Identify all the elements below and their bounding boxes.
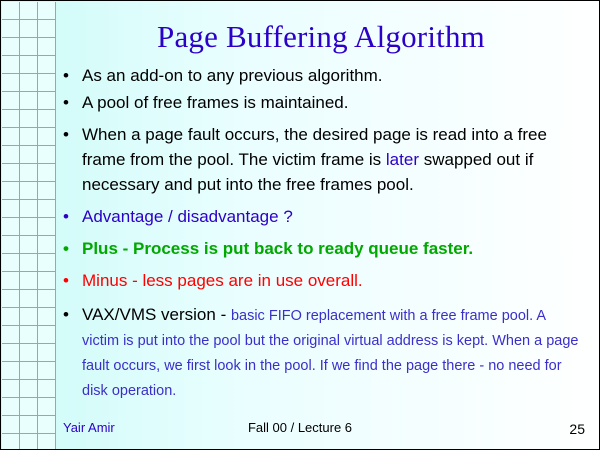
- bullet-icon: •: [63, 122, 82, 147]
- list-item: • Advantage / disadvantage ?: [63, 204, 583, 229]
- list-item: • When a page fault occurs, the desired …: [63, 122, 583, 197]
- list-item-text: Minus - less pages are in use overall.: [82, 268, 583, 293]
- bullet-icon: •: [63, 236, 82, 261]
- list-item-text: Plus - Process is put back to ready queu…: [82, 236, 583, 261]
- list-item: • A pool of free frames is maintained.: [63, 90, 583, 115]
- bullet-icon: •: [63, 204, 82, 229]
- bullet-list: • As an add-on to any previous algorithm…: [63, 63, 583, 404]
- list-item-text: Advantage / disadvantage ?: [82, 204, 583, 229]
- bullet-icon: •: [63, 268, 82, 293]
- list-item-text: When a page fault occurs, the desired pa…: [82, 122, 583, 197]
- list-item: • VAX/VMS version - basic FIFO replaceme…: [63, 302, 583, 402]
- footer-page-number: 25: [569, 421, 585, 437]
- list-item: • Minus - less pages are in use overall.: [63, 268, 583, 293]
- slide-canvas: Page Buffering Algorithm • As an add-on …: [0, 0, 600, 450]
- page-title: Page Buffering Algorithm: [61, 19, 581, 55]
- list-item-text: VAX/VMS version - basic FIFO replacement…: [82, 302, 583, 402]
- bullet-icon: •: [63, 90, 82, 115]
- decorative-grid-strip: [2, 2, 56, 450]
- text-segment: VAX/VMS version -: [82, 305, 231, 324]
- list-item-text: A pool of free frames is maintained.: [82, 90, 583, 115]
- list-item-text: As an add-on to any previous algorithm.: [82, 63, 583, 88]
- bullet-icon: •: [63, 63, 82, 88]
- footer-lecture-info: Fall 00 / Lecture 6: [1, 420, 599, 435]
- text-segment-highlight: later: [386, 150, 419, 169]
- list-item: • As an add-on to any previous algorithm…: [63, 63, 583, 88]
- list-item: • Plus - Process is put back to ready qu…: [63, 236, 583, 261]
- bullet-icon: •: [63, 302, 82, 327]
